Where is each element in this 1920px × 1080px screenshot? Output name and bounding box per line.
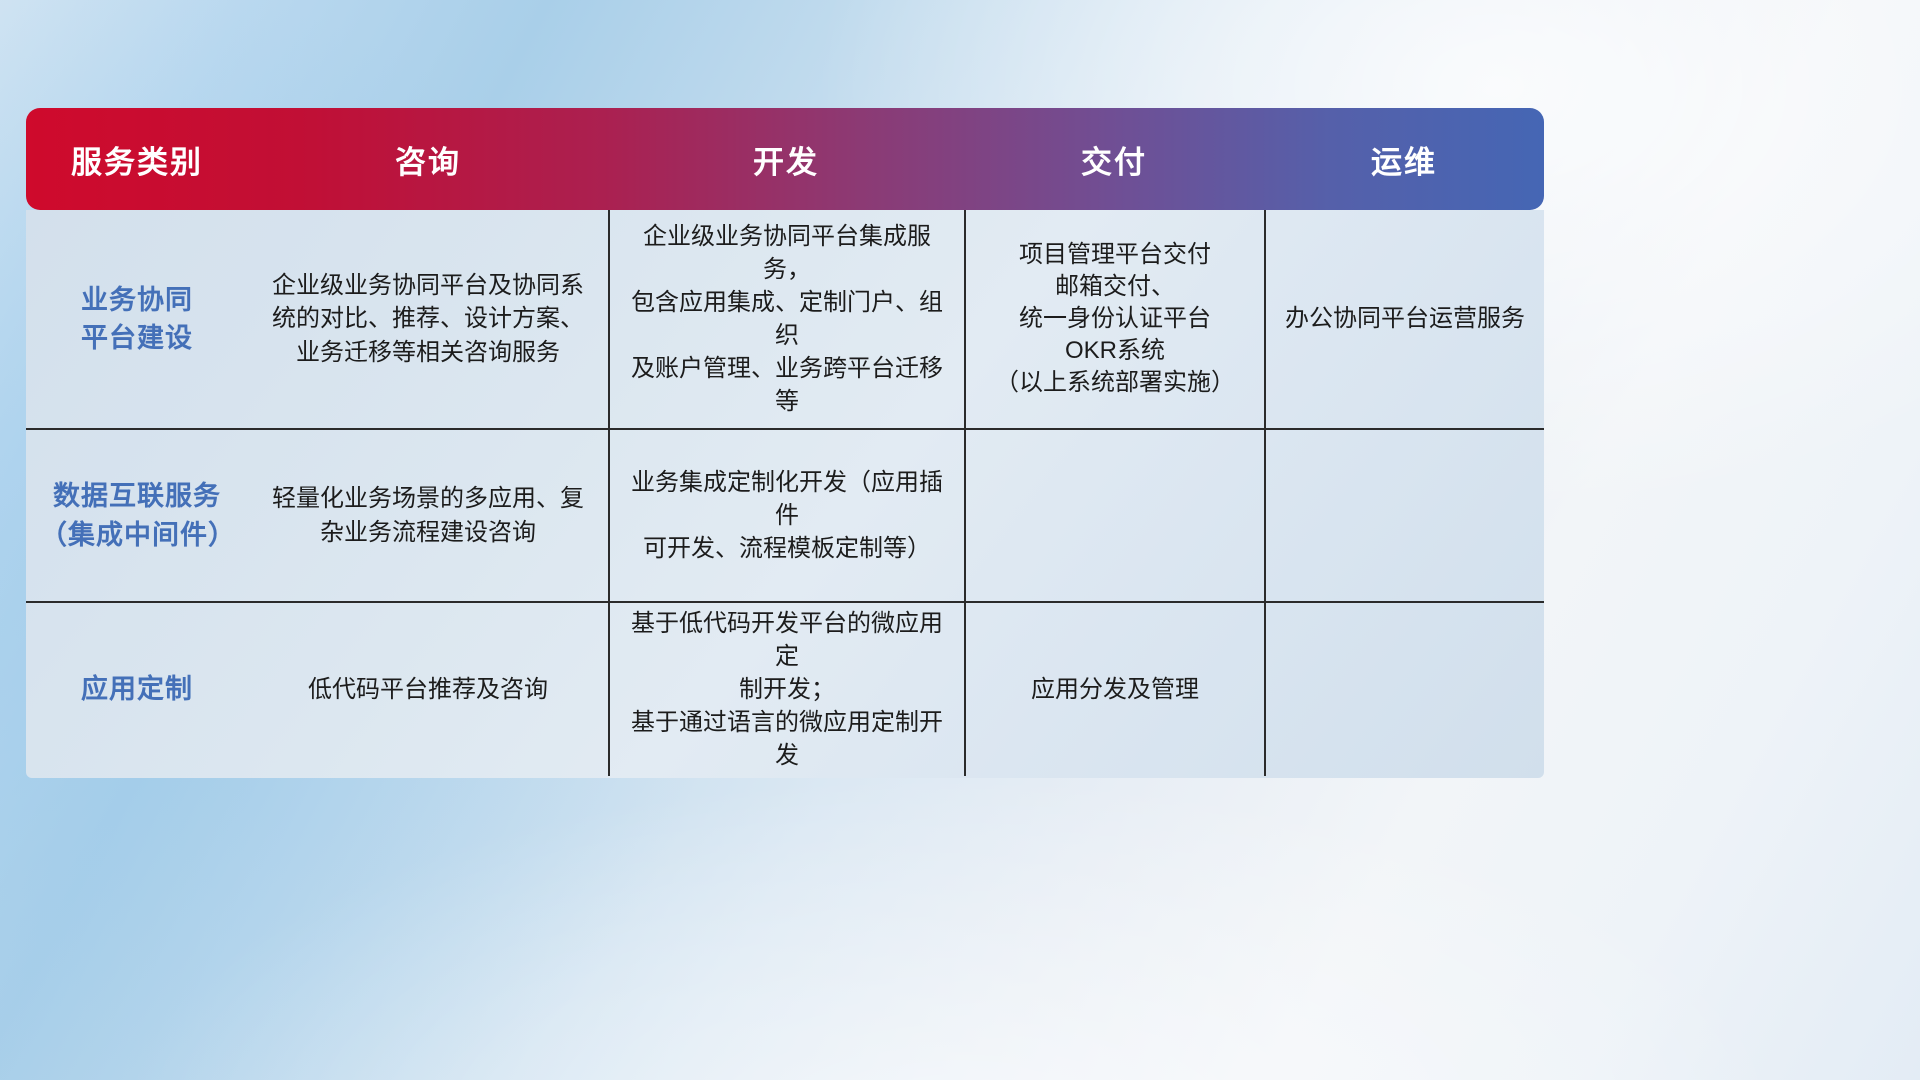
cell-text: 办公协同平台运营服务: [1285, 302, 1525, 335]
table-row: 应用定制 低代码平台推荐及咨询 基于低代码开发平台的微应用定 制开发； 基于通过…: [26, 601, 1544, 776]
cell-delivery: 项目管理平台交付 邮箱交付、 统一身份认证平台 OKR系统 （以上系统部署实施）: [964, 210, 1264, 428]
row-label-business-collaboration: 业务协同 平台建设: [81, 281, 193, 358]
row-header-cell: 业务协同 平台建设: [26, 210, 248, 428]
cell-consulting: 低代码平台推荐及咨询: [248, 603, 608, 776]
cell-consulting: 企业级业务协同平台及协同系 统的对比、推荐、设计方案、 业务迁移等相关咨询服务: [248, 210, 608, 428]
cell-delivery: [964, 430, 1264, 601]
cell-text: 轻量化业务场景的多应用、复 杂业务流程建设咨询: [272, 482, 584, 548]
cell-operations: [1264, 603, 1544, 776]
column-header-operations: 运维: [1264, 137, 1544, 182]
column-header-development: 开发: [608, 137, 964, 182]
column-header-service-category: 服务类别: [26, 137, 248, 182]
cell-text: 企业级业务协同平台集成服务， 包含应用集成、定制门户、组织 及账户管理、业务跨平…: [624, 220, 950, 419]
cell-text: 应用分发及管理: [1031, 673, 1199, 706]
cell-text: 低代码平台推荐及咨询: [308, 673, 548, 706]
cell-development: 企业级业务协同平台集成服务， 包含应用集成、定制门户、组织 及账户管理、业务跨平…: [608, 210, 964, 428]
table-row: 数据互联服务 （集成中间件） 轻量化业务场景的多应用、复 杂业务流程建设咨询 业…: [26, 428, 1544, 601]
column-header-delivery: 交付: [964, 137, 1264, 182]
table-body: 业务协同 平台建设 企业级业务协同平台及协同系 统的对比、推荐、设计方案、 业务…: [26, 210, 1544, 778]
row-header-cell: 应用定制: [26, 603, 248, 776]
row-label-app-customization: 应用定制: [81, 670, 193, 708]
cell-text: 业务集成定制化开发（应用插件 可开发、流程模板定制等）: [624, 466, 950, 565]
row-label-data-interconnect: 数据互联服务 （集成中间件）: [40, 477, 234, 554]
cell-operations: 办公协同平台运营服务: [1264, 210, 1544, 428]
service-matrix-table: 服务类别 咨询 开发 交付 运维 业务协同 平台建设 企业级业务协同平台及协同系…: [26, 108, 1544, 778]
cell-delivery: 应用分发及管理: [964, 603, 1264, 776]
cell-development: 业务集成定制化开发（应用插件 可开发、流程模板定制等）: [608, 430, 964, 601]
column-header-consulting: 咨询: [248, 137, 608, 182]
cell-operations: [1264, 430, 1544, 601]
row-header-cell: 数据互联服务 （集成中间件）: [26, 430, 248, 601]
table-row: 业务协同 平台建设 企业级业务协同平台及协同系 统的对比、推荐、设计方案、 业务…: [26, 210, 1544, 428]
cell-text: 企业级业务协同平台及协同系 统的对比、推荐、设计方案、 业务迁移等相关咨询服务: [272, 269, 584, 368]
table-header-row: 服务类别 咨询 开发 交付 运维: [26, 108, 1544, 210]
cell-text: 基于低代码开发平台的微应用定 制开发； 基于通过语言的微应用定制开发: [624, 607, 950, 773]
cell-consulting: 轻量化业务场景的多应用、复 杂业务流程建设咨询: [248, 430, 608, 601]
cell-development: 基于低代码开发平台的微应用定 制开发； 基于通过语言的微应用定制开发: [608, 603, 964, 776]
cell-text: 项目管理平台交付 邮箱交付、 统一身份认证平台 OKR系统 （以上系统部署实施）: [995, 239, 1235, 400]
